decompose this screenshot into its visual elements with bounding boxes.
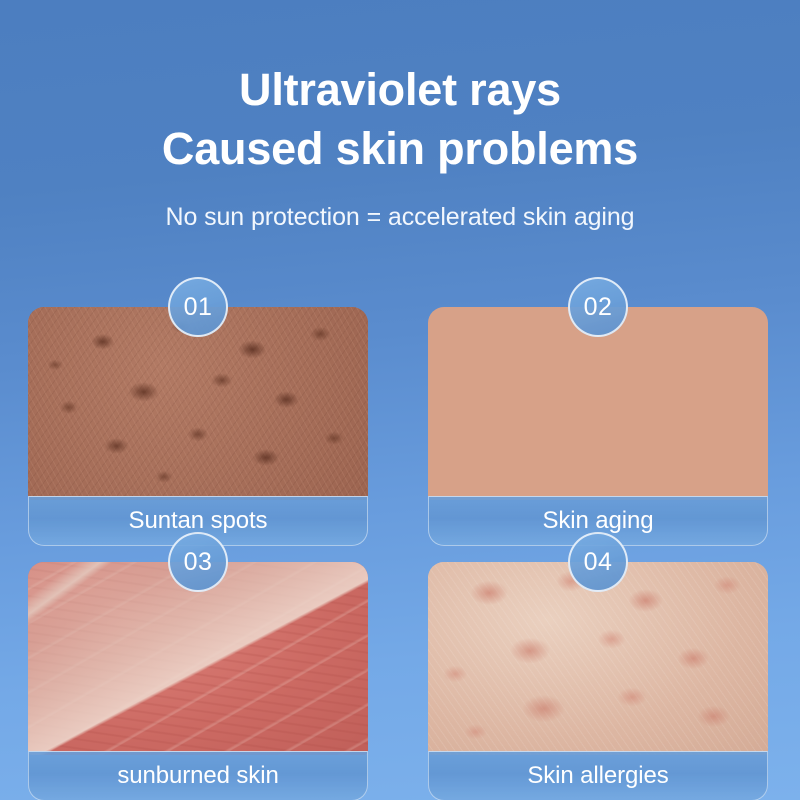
card-number-badge-02: 02 (568, 277, 628, 337)
card-caption-text: Skin aging (542, 509, 653, 533)
skin-problem-card-grid: 01 Suntan spots 02 Skin aging 03 (28, 307, 772, 755)
skin-problem-card-02: 02 Skin aging (428, 307, 768, 500)
card-number-badge-03: 03 (168, 532, 228, 592)
page-title: Ultraviolet rays Caused skin problems (0, 60, 800, 179)
headline-line-2: Caused skin problems (0, 119, 800, 178)
card-caption-text: Skin allergies (527, 764, 668, 788)
card-number-badge-04: 04 (568, 532, 628, 592)
card-number-text: 03 (184, 550, 213, 575)
page-subtitle: No sun protection = accelerated skin agi… (0, 179, 800, 232)
headline-line-1: Ultraviolet rays (0, 60, 800, 119)
uv-skin-damage-poster: Ultraviolet rays Caused skin problems No… (0, 0, 800, 800)
card-number-badge-01: 01 (168, 277, 228, 337)
card-caption-bar-04: Skin allergies (428, 751, 768, 800)
card-caption-text: Suntan spots (129, 509, 268, 533)
card-number-text: 02 (584, 295, 613, 320)
card-number-text: 04 (584, 550, 613, 575)
skin-problem-card-03: 03 sunburned skin (28, 562, 368, 755)
skin-problem-card-01: 01 Suntan spots (28, 307, 368, 500)
skin-problem-card-04: 04 Skin allergies (428, 562, 768, 755)
card-caption-bar-03: sunburned skin (28, 751, 368, 800)
poster-header: Ultraviolet rays Caused skin problems No… (0, 0, 800, 232)
card-caption-text: sunburned skin (117, 764, 278, 788)
card-number-text: 01 (184, 295, 213, 320)
